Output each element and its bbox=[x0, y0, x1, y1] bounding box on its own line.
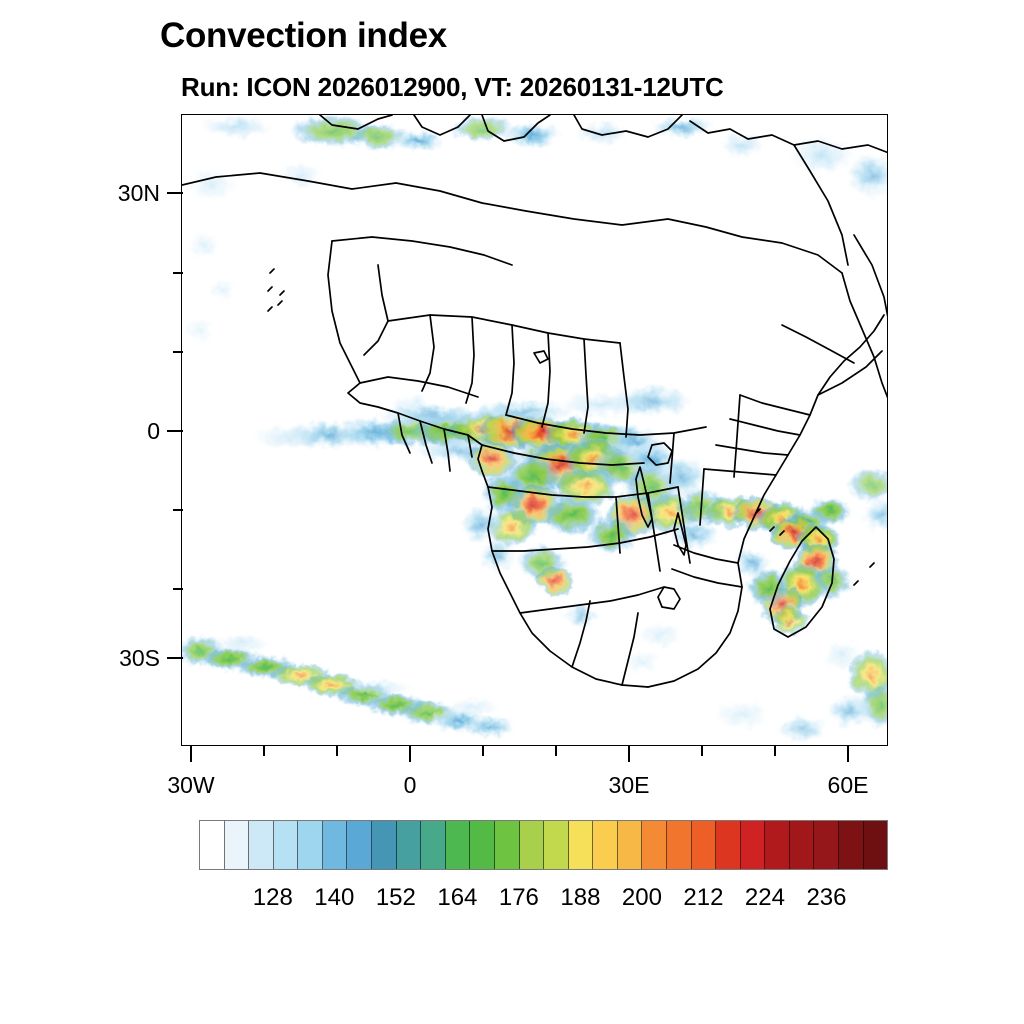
colorbar-segment bbox=[397, 821, 422, 869]
x-tick-minor-50e bbox=[774, 746, 776, 756]
x-tick-major-60e bbox=[847, 746, 849, 762]
x-tick-major-0 bbox=[409, 746, 411, 762]
y-axis-label-30s: 30S bbox=[40, 645, 160, 672]
y-tick-major-30s bbox=[167, 657, 183, 659]
colorbar-segment bbox=[372, 821, 397, 869]
colorbar-segment bbox=[298, 821, 323, 869]
y-axis-label-30n: 30N bbox=[40, 180, 160, 207]
colorbar-segment bbox=[470, 821, 495, 869]
x-axis-label-30w: 30W bbox=[131, 772, 251, 799]
x-tick-minor-10w bbox=[336, 746, 338, 756]
colorbar-segment bbox=[544, 821, 569, 869]
colorbar-segment bbox=[716, 821, 741, 869]
colorbar-segment bbox=[520, 821, 545, 869]
x-axis-label-30e: 30E bbox=[569, 772, 689, 799]
colorbar-segment bbox=[495, 821, 520, 869]
page-title: Convection index bbox=[160, 16, 447, 56]
colorbar-segment bbox=[618, 821, 643, 869]
y-axis-label-0: 0 bbox=[40, 418, 160, 445]
colorbar-segment bbox=[200, 821, 225, 869]
colorbar[interactable] bbox=[199, 820, 888, 870]
x-tick-major-30e bbox=[628, 746, 630, 762]
colorbar-segment bbox=[814, 821, 839, 869]
colorbar-segment bbox=[347, 821, 372, 869]
y-tick-minor-10s bbox=[173, 509, 183, 511]
x-tick-minor-20e bbox=[555, 746, 557, 756]
colorbar-segment bbox=[421, 821, 446, 869]
colorbar-segment bbox=[642, 821, 667, 869]
y-tick-major-0 bbox=[167, 430, 183, 432]
colorbar-segment bbox=[446, 821, 471, 869]
colorbar-segment bbox=[741, 821, 766, 869]
y-tick-minor-20s bbox=[173, 588, 183, 590]
y-tick-minor-20n bbox=[173, 272, 183, 274]
colorbar-segment bbox=[274, 821, 299, 869]
x-tick-major-30w bbox=[190, 746, 192, 762]
colorbar-segment bbox=[593, 821, 618, 869]
y-tick-major-30n bbox=[167, 192, 183, 194]
x-tick-minor-20w bbox=[263, 746, 265, 756]
colorbar-tick-label: 236 bbox=[766, 884, 886, 912]
colorbar-segment bbox=[839, 821, 864, 869]
x-axis-label-60e: 60E bbox=[788, 772, 908, 799]
run-valid-time-subtitle: Run: ICON 2026012900, VT: 20260131-12UTC bbox=[181, 72, 724, 103]
colorbar-segment bbox=[790, 821, 815, 869]
colorbar-segment bbox=[765, 821, 790, 869]
convection-index-map bbox=[182, 115, 888, 746]
x-tick-minor-40e bbox=[701, 746, 703, 756]
x-axis-label-0: 0 bbox=[350, 772, 470, 799]
colorbar-segment bbox=[569, 821, 594, 869]
colorbar-segment bbox=[864, 821, 888, 869]
map-plot-area[interactable] bbox=[181, 114, 888, 746]
y-tick-minor-10n bbox=[173, 351, 183, 353]
colorbar-segment bbox=[692, 821, 717, 869]
colorbar-segment bbox=[249, 821, 274, 869]
colorbar-segment bbox=[225, 821, 250, 869]
colorbar-segment bbox=[667, 821, 692, 869]
x-tick-minor-10e bbox=[482, 746, 484, 756]
colorbar-segment bbox=[323, 821, 348, 869]
